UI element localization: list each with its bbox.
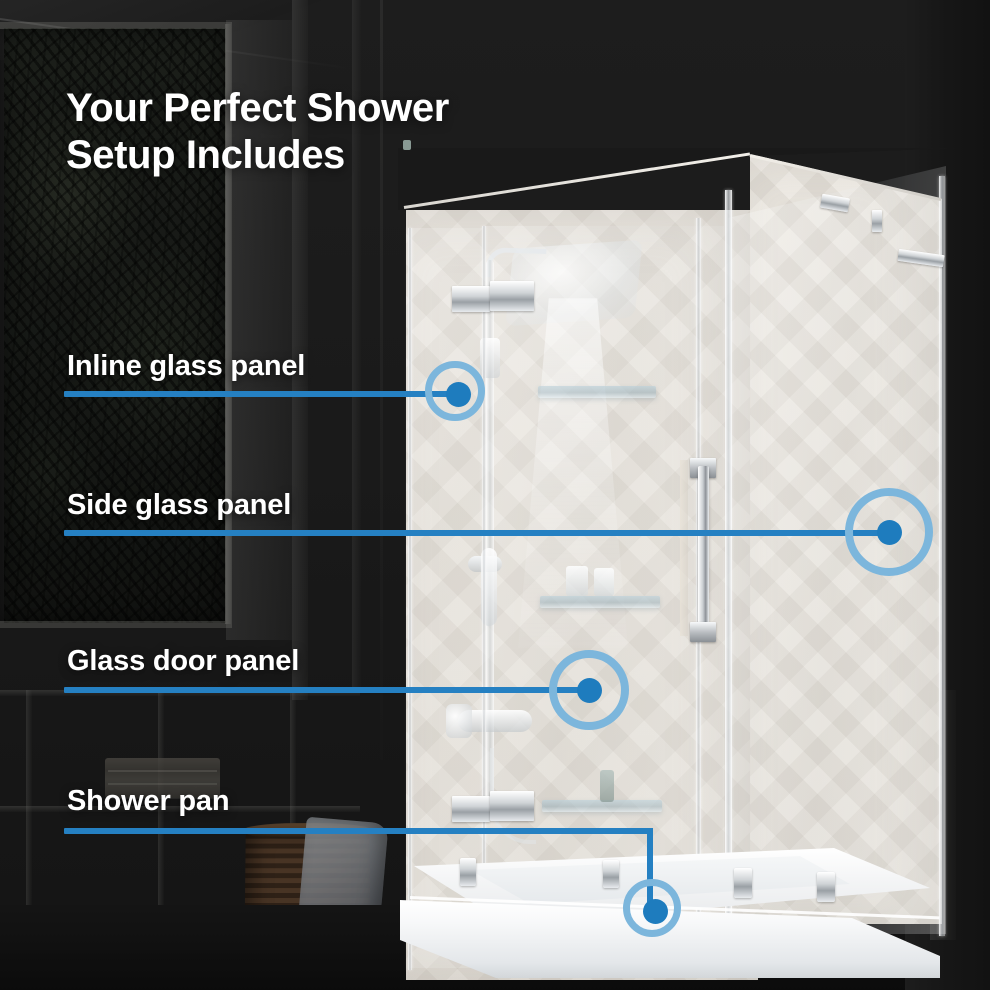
top-bracket-post — [872, 210, 882, 232]
leader-line-shower-pan — [64, 828, 653, 834]
handle-mount-bottom — [690, 622, 716, 642]
callout-marker-glass-door-panel — [549, 650, 629, 730]
hinge-bottom-body — [490, 791, 534, 821]
callout-label-inline-glass-panel: Inline glass panel — [67, 350, 305, 383]
hinge-top-body — [490, 281, 534, 311]
callout-marker-dot — [877, 520, 902, 545]
glass-clip-4 — [817, 872, 835, 902]
callout-marker-inline-glass-panel — [425, 361, 485, 421]
promo-image: Your Perfect Shower Setup Includes Inlin… — [0, 0, 990, 990]
hinge-top-plate — [452, 286, 490, 312]
callout-label-glass-door-panel: Glass door panel — [67, 645, 299, 678]
leader-line-glass-door-panel — [64, 687, 591, 693]
glass-clip-2 — [603, 860, 619, 888]
callout-label-side-glass-panel: Side glass panel — [67, 489, 291, 522]
leader-line-inline-glass-panel — [64, 391, 456, 397]
glass-clip-3 — [734, 868, 752, 898]
hinge-bottom-plate — [452, 796, 490, 822]
leader-line-side-glass-panel — [64, 530, 891, 536]
callout-marker-dot — [446, 382, 471, 407]
callout-label-shower-pan: Shower pan — [67, 785, 229, 818]
callout-marker-dot — [577, 678, 602, 703]
callout-marker-shower-pan — [623, 879, 681, 937]
door-handle — [698, 466, 709, 632]
glass-seam-corner — [725, 190, 732, 938]
handle-reflection — [680, 460, 688, 636]
page-title: Your Perfect Shower Setup Includes — [66, 85, 449, 179]
glass-seam-right — [939, 176, 945, 936]
glass-clip-1 — [460, 858, 476, 886]
callout-marker-side-glass-panel — [845, 488, 933, 576]
callout-marker-dot — [643, 899, 668, 924]
